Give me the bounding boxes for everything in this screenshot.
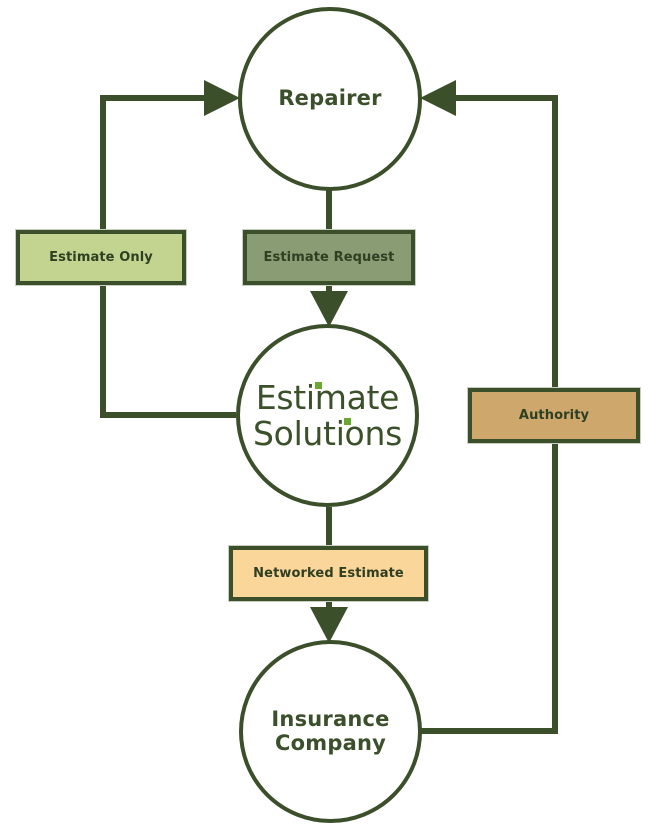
arrowhead-into-repairer-left	[204, 80, 240, 116]
estimate-solutions-logotype: Estimate Solutions	[253, 380, 402, 451]
edge-label-estimate-request-text: Estimate Request	[264, 250, 395, 265]
node-insurance-company[interactable]: Insurance Company	[239, 640, 422, 823]
diagram-canvas: Repairer Estimate Solutions Insurance Co…	[0, 0, 652, 830]
edge-label-authority[interactable]: Authority	[468, 388, 640, 443]
arrowhead-into-insurance	[310, 607, 348, 643]
edge-label-authority-text: Authority	[519, 408, 589, 423]
node-repairer-label: Repairer	[278, 87, 381, 111]
arrowhead-into-estimate-solutions	[310, 291, 348, 327]
arrowhead-into-repairer-right	[420, 80, 456, 116]
logotype-line-1-text: Estimate	[256, 378, 399, 417]
accent-square-icon-estimate	[315, 382, 322, 389]
logotype-line-2: Solutions	[253, 416, 402, 452]
node-estimate-solutions[interactable]: Estimate Solutions	[236, 324, 419, 507]
node-repairer[interactable]: Repairer	[238, 7, 422, 191]
edge-label-networked-estimate[interactable]: Networked Estimate	[229, 546, 428, 601]
edge-label-estimate-request[interactable]: Estimate Request	[243, 230, 415, 285]
accent-square-icon-solutions	[344, 418, 351, 425]
edge-label-estimate-only-text: Estimate Only	[49, 250, 153, 265]
node-insurance-company-label: Insurance Company	[271, 708, 389, 755]
logotype-line-1: Estimate	[253, 380, 402, 416]
edge-label-estimate-only[interactable]: Estimate Only	[16, 230, 186, 285]
edge-label-networked-estimate-text: Networked Estimate	[253, 566, 404, 581]
logotype-line-2-text: Solutions	[253, 414, 402, 453]
